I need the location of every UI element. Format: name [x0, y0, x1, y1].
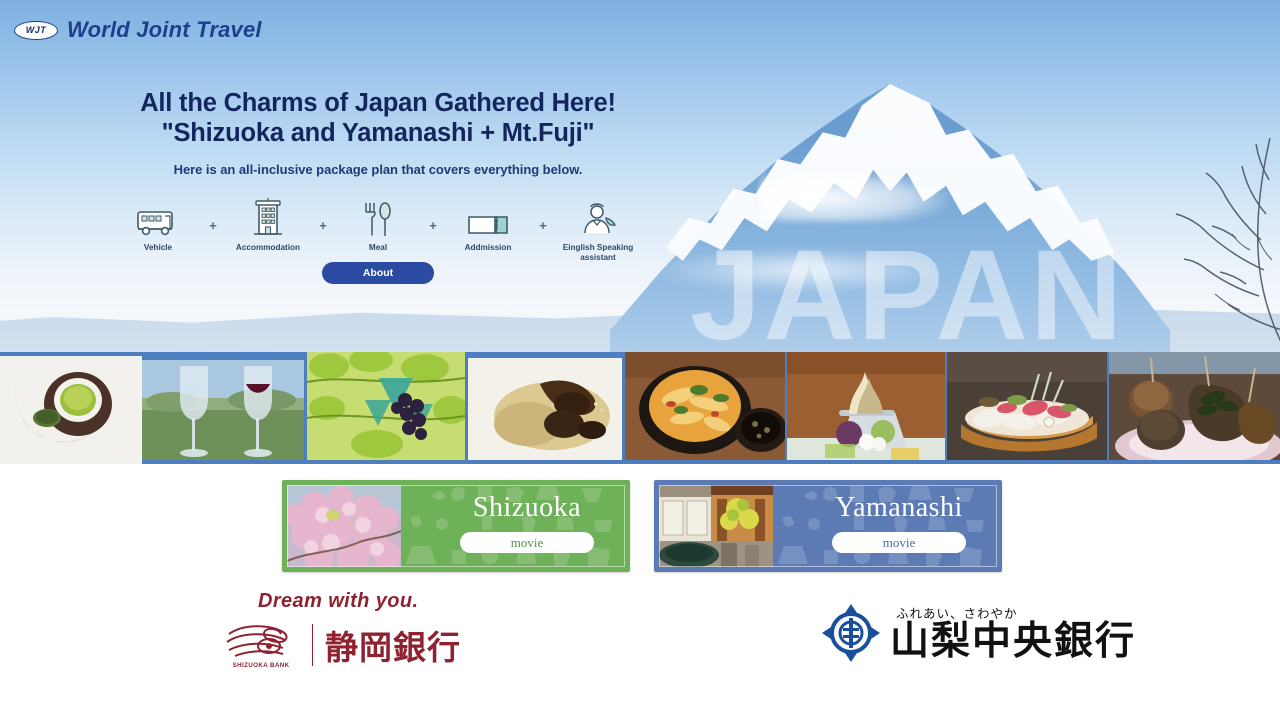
food-photo-strip — [0, 352, 1280, 464]
fuji-cloud — [760, 170, 950, 222]
sashimi-boat-photo — [947, 352, 1107, 460]
feature-label: Vehicle — [144, 243, 172, 253]
fork-spoon-icon — [361, 196, 395, 238]
plus-separator-4: + — [531, 196, 555, 233]
hero-headline-block: All the Charms of Japan Gathered Here! "… — [0, 88, 756, 177]
plus-separator-1: + — [201, 196, 225, 233]
yamanashi-bank-text-lockup: ふれあい、さわやか 山梨中央銀行 — [890, 603, 1136, 663]
hotel-building-icon — [251, 196, 285, 238]
warabimochi-photo — [468, 358, 622, 460]
shizuoka-bank-lockup: SHIZUOKA BANK 静岡銀行 — [222, 620, 461, 669]
soft-serve-photo — [787, 352, 945, 460]
feature-meal: Meal — [335, 196, 421, 253]
shizuoka-movie-button[interactable]: movie — [460, 532, 594, 553]
shizuoka-bank-logo[interactable]: Dream with you. SHIZUOKA BANK 静岡銀行 — [222, 590, 472, 668]
plus-separator-2: + — [311, 196, 335, 233]
hero-banner: JAPAN WJT World Joint Travel All the Cha… — [0, 0, 1280, 352]
shizuoka-bank-en-name: SHIZUOKA BANK — [233, 662, 290, 669]
landing-page: JAPAN WJT World Joint Travel All the Cha… — [0, 0, 1280, 720]
feature-label: Accommodation — [236, 243, 300, 253]
feature-accommodation: Accommodation — [225, 196, 311, 253]
feature-english-assistant: Einglish Speaking assistant — [555, 196, 641, 264]
site-logo-text: World Joint Travel — [67, 17, 262, 43]
feature-vehicle: Vehicle — [115, 196, 201, 253]
package-features-row: Vehicle + — [0, 196, 756, 264]
houtou-hotpot-photo — [625, 352, 785, 460]
feature-label: Einglish Speaking assistant — [555, 243, 641, 264]
headline-line-2: "Shizuoka and Yamanashi + Mt.Fuji" — [0, 118, 756, 148]
banner-title: Yamanashi — [804, 492, 994, 524]
banner-title: Shizuoka — [432, 492, 622, 524]
yamanashi-movie-banner[interactable]: Yamanashi movie — [654, 480, 1002, 572]
grapes-photo — [307, 352, 465, 460]
about-button[interactable]: About — [322, 262, 434, 284]
about-button-row: About — [0, 262, 756, 284]
shizuoka-movie-banner[interactable]: Shizuoka movie — [282, 480, 630, 572]
guide-person-icon — [578, 196, 618, 238]
site-logo[interactable]: WJT World Joint Travel — [14, 17, 262, 43]
wjt-badge-text: WJT — [26, 25, 47, 35]
yamanashi-bank-jp-name: 山梨中央銀行 — [890, 622, 1136, 663]
feature-label: Meal — [369, 243, 387, 253]
bus-icon — [135, 196, 181, 238]
green-tea-photo — [0, 356, 142, 464]
yamanashi-movie-button[interactable]: movie — [832, 532, 966, 553]
wine-glasses-photo — [142, 360, 304, 460]
shizuoka-bank-tagline: Dream with you. — [258, 590, 418, 613]
wjt-badge-icon: WJT — [14, 21, 58, 40]
logo-divider — [312, 624, 313, 666]
shizuoka-bank-jp-name: 静岡銀行 — [325, 621, 461, 669]
yamanashi-chuo-bank-logo[interactable]: ふれあい、さわやか 山梨中央銀行 — [822, 598, 1222, 668]
headline-line-1: All the Charms of Japan Gathered Here! — [0, 88, 756, 118]
plus-separator-3: + — [421, 196, 445, 233]
oden-photo — [1109, 352, 1280, 460]
feature-admission: Addmission — [445, 196, 531, 253]
hero-subheadline: Here is an all-inclusive package plan th… — [0, 162, 756, 177]
shizuoka-bank-wave-icon: SHIZUOKA BANK — [222, 620, 300, 669]
feature-label: Addmission — [465, 243, 512, 253]
ticket-icon — [466, 196, 510, 238]
yamanashi-bank-emblem-icon — [822, 604, 880, 662]
